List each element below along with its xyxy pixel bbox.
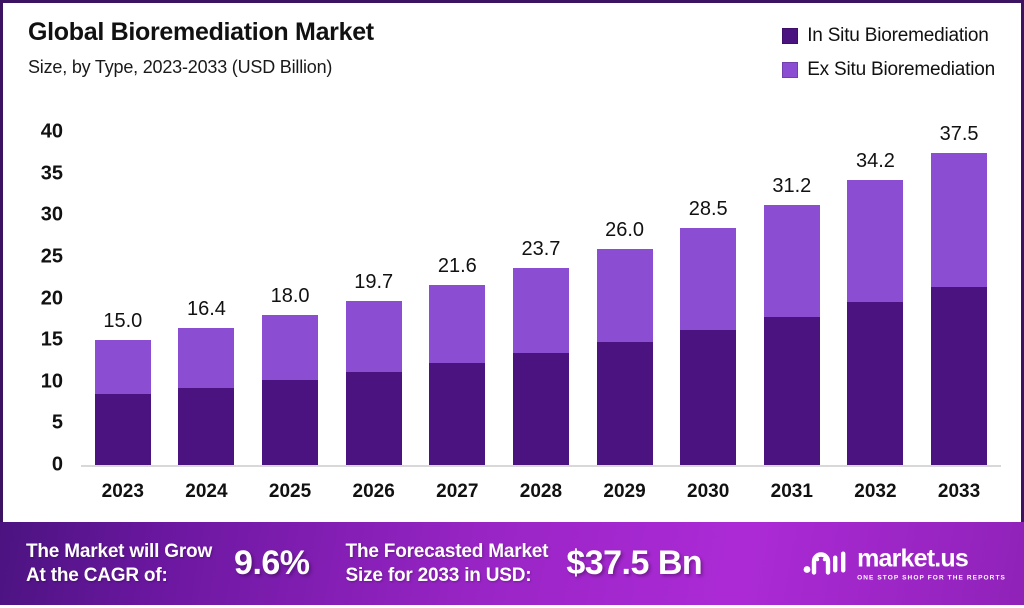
bar-segment-ex-situ[interactable] xyxy=(764,205,820,317)
forecast-caption: The Forecasted Market Size for 2033 in U… xyxy=(346,540,549,588)
bar-group-2023[interactable]: 15.0 xyxy=(95,132,151,465)
x-axis-tick-2029: 2029 xyxy=(597,481,653,503)
logo-text: market.us ONE STOP SHOP FOR THE REPORTS xyxy=(857,546,1006,581)
legend-item-label: Ex Situ Bioremediation xyxy=(807,59,995,81)
cagr-block: The Market will Grow At the CAGR of: xyxy=(26,540,212,588)
bar-segment-in-situ[interactable] xyxy=(764,317,820,465)
bar-group-2030[interactable]: 28.5 xyxy=(680,132,736,465)
y-axis-tick-0: 0 xyxy=(3,454,63,477)
bar-segment-in-situ[interactable] xyxy=(262,380,318,465)
market-us-logo-icon xyxy=(803,546,849,581)
bar-total-label: 18.0 xyxy=(271,285,310,308)
bar-total-label: 21.6 xyxy=(438,255,477,278)
bar-segment-ex-situ[interactable] xyxy=(429,285,485,362)
legend-item-2[interactable]: Ex Situ Bioremediation xyxy=(782,59,995,81)
y-axis-tick-25: 25 xyxy=(3,245,63,268)
bar-total-label: 16.4 xyxy=(187,298,226,321)
cagr-value: 9.6% xyxy=(234,544,310,583)
bar-total-label: 23.7 xyxy=(521,238,560,261)
bar-segment-ex-situ[interactable] xyxy=(513,268,569,353)
bar-total-label: 28.5 xyxy=(689,198,728,221)
bar-segment-in-situ[interactable] xyxy=(429,363,485,465)
bar-segment-in-situ[interactable] xyxy=(178,388,234,465)
bar-segment-ex-situ[interactable] xyxy=(847,180,903,302)
cagr-caption-line2: At the CAGR of: xyxy=(26,564,212,588)
bar-segment-in-situ[interactable] xyxy=(680,330,736,465)
x-axis-tick-2030: 2030 xyxy=(680,481,736,503)
cagr-caption-line1: The Market will Grow xyxy=(26,540,212,564)
chart-infographic: Global Bioremediation Market Size, by Ty… xyxy=(0,0,1024,605)
bar-group-2027[interactable]: 21.6 xyxy=(429,132,485,465)
forecast-caption-line2: Size for 2033 in USD: xyxy=(346,564,549,588)
x-axis-tick-2024: 2024 xyxy=(178,481,234,503)
bar-group-2032[interactable]: 34.2 xyxy=(847,132,903,465)
bar-segment-ex-situ[interactable] xyxy=(95,340,151,394)
y-axis-tick-labels: 0510152025303540 xyxy=(3,3,67,608)
bar-segment-in-situ[interactable] xyxy=(95,394,151,465)
logo-tagline: ONE STOP SHOP FOR THE REPORTS xyxy=(857,574,1006,581)
cagr-caption: The Market will Grow At the CAGR of: xyxy=(26,540,212,588)
brand-logo[interactable]: market.us ONE STOP SHOP FOR THE REPORTS xyxy=(803,546,1006,581)
page-title: Global Bioremediation Market xyxy=(28,17,374,47)
bar-segment-in-situ[interactable] xyxy=(597,342,653,465)
bar-total-label: 19.7 xyxy=(354,271,393,294)
bar-total-label: 34.2 xyxy=(856,150,895,173)
x-axis-line xyxy=(81,465,1001,467)
bar-segment-in-situ[interactable] xyxy=(513,353,569,465)
legend-swatch-icon xyxy=(782,28,798,44)
bar-total-label: 26.0 xyxy=(605,219,644,242)
legend-item-label: In Situ Bioremediation xyxy=(807,25,988,47)
page-subtitle: Size, by Type, 2023-2033 (USD Billion) xyxy=(28,57,374,78)
legend-item-1[interactable]: In Situ Bioremediation xyxy=(782,25,988,47)
bar-segment-ex-situ[interactable] xyxy=(346,301,402,372)
logo-wordmark: market.us xyxy=(857,546,1006,571)
bar-segment-ex-situ[interactable] xyxy=(680,228,736,330)
x-axis-tick-2023: 2023 xyxy=(95,481,151,503)
y-axis-tick-15: 15 xyxy=(3,329,63,352)
bar-total-label: 37.5 xyxy=(940,123,979,146)
bar-group-2026[interactable]: 19.7 xyxy=(346,132,402,465)
bar-group-2033[interactable]: 37.5 xyxy=(931,132,987,465)
x-axis-tick-2027: 2027 xyxy=(429,481,485,503)
x-axis-tick-2031: 2031 xyxy=(764,481,820,503)
chart-panel: Global Bioremediation Market Size, by Ty… xyxy=(0,0,1024,522)
bar-segment-in-situ[interactable] xyxy=(847,302,903,465)
forecast-block: The Forecasted Market Size for 2033 in U… xyxy=(346,540,549,588)
bar-segment-ex-situ[interactable] xyxy=(931,153,987,287)
y-axis-tick-40: 40 xyxy=(3,121,63,144)
legend-swatch-icon xyxy=(782,62,798,78)
summary-banner: The Market will Grow At the CAGR of: 9.6… xyxy=(0,522,1024,605)
bar-group-2029[interactable]: 26.0 xyxy=(597,132,653,465)
bar-total-label: 31.2 xyxy=(772,175,811,198)
bar-segment-in-situ[interactable] xyxy=(931,287,987,465)
forecast-value: $37.5 Bn xyxy=(566,544,702,583)
forecast-caption-line1: The Forecasted Market xyxy=(346,540,549,564)
y-axis-tick-30: 30 xyxy=(3,204,63,227)
bar-total-label: 15.0 xyxy=(103,310,142,333)
bar-segment-ex-situ[interactable] xyxy=(262,315,318,380)
x-axis-tick-2032: 2032 xyxy=(847,481,903,503)
x-axis-tick-labels: 2023202420252026202720282029203020312032… xyxy=(81,481,1001,503)
bar-group-2025[interactable]: 18.0 xyxy=(262,132,318,465)
y-axis-tick-10: 10 xyxy=(3,370,63,393)
x-axis-tick-2033: 2033 xyxy=(931,481,987,503)
title-block: Global Bioremediation Market Size, by Ty… xyxy=(28,17,374,78)
bar-group-2031[interactable]: 31.2 xyxy=(764,132,820,465)
bar-group-2028[interactable]: 23.7 xyxy=(513,132,569,465)
x-axis-tick-2028: 2028 xyxy=(513,481,569,503)
bar-series-container: 15.016.418.019.721.623.726.028.531.234.2… xyxy=(81,132,1001,465)
x-axis-tick-2025: 2025 xyxy=(262,481,318,503)
y-axis-tick-5: 5 xyxy=(3,412,63,435)
bar-segment-ex-situ[interactable] xyxy=(597,249,653,342)
y-axis-tick-20: 20 xyxy=(3,287,63,310)
bar-group-2024[interactable]: 16.4 xyxy=(178,132,234,465)
chart-legend: In Situ BioremediationEx Situ Bioremedia… xyxy=(782,25,995,81)
bar-segment-in-situ[interactable] xyxy=(346,372,402,465)
bar-segment-ex-situ[interactable] xyxy=(178,328,234,387)
x-axis-tick-2026: 2026 xyxy=(346,481,402,503)
y-axis-tick-35: 35 xyxy=(3,162,63,185)
